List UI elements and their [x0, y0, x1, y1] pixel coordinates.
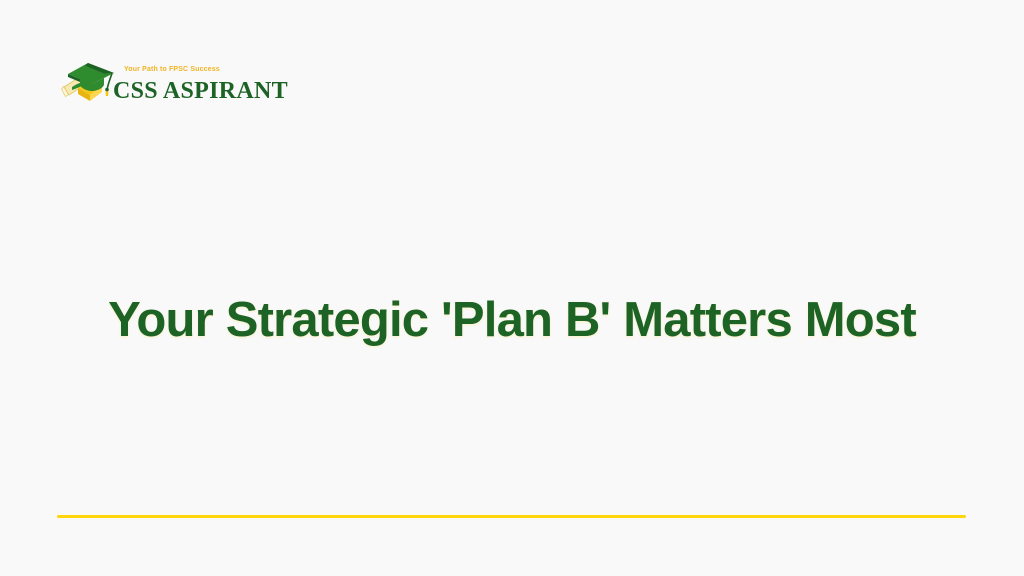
logo-text-block: Your Path to FPSC Success CSS ASPIRANT	[112, 55, 242, 111]
page-title: Your Strategic 'Plan B' Matters Most	[0, 288, 1024, 352]
brand-logo: Your Path to FPSC Success CSS ASPIRANT	[60, 55, 240, 115]
logo-wordmark: CSS ASPIRANT	[113, 79, 288, 103]
slide-canvas: Your Path to FPSC Success CSS ASPIRANT Y…	[0, 0, 1024, 576]
bottom-accent-rule	[57, 515, 966, 518]
graduation-cap-diploma-icon	[60, 57, 116, 109]
logo-tagline: Your Path to FPSC Success	[124, 66, 220, 73]
